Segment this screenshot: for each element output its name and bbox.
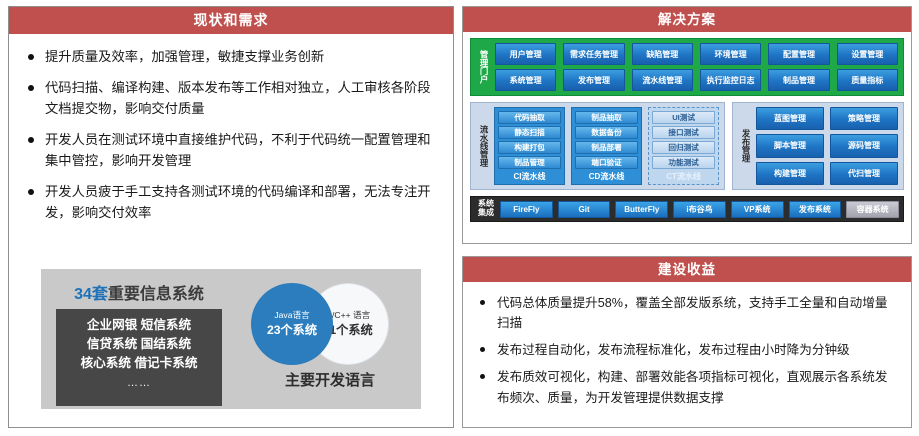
list-item: 开发人员在测试环境中直接维护代码，不利于代码统一配置管理和集中管控，影响开发管理 — [25, 129, 439, 172]
integration-item-butterfly[interactable]: ButterFly — [615, 201, 668, 218]
release-button-build-management[interactable]: 构建管理 — [756, 162, 824, 185]
management-portal-buttons: 用户管理 需求任务管理 缺陷管理 环境管理 配置管理 设置管理 系统管理 发布管… — [495, 43, 898, 91]
solution-middle-row: 流水线管理 代码抽取 静态扫描 构建打包 制品管理 CI流水线 制品抽取 数据备… — [470, 102, 904, 190]
cd-step-artifact-fetch[interactable]: 制品抽取 — [575, 111, 638, 124]
cd-step-port-verify[interactable]: 端口验证 — [575, 156, 638, 169]
ci-step-build-package[interactable]: 构建打包 — [498, 141, 561, 154]
ci-step-code-checkout[interactable]: 代码抽取 — [498, 111, 561, 124]
integration-item-vp-system[interactable]: VP系统 — [731, 201, 784, 218]
ct-step-ui-test[interactable]: UI测试 — [652, 111, 715, 124]
pipeline-name-ct: CT流水线 — [652, 171, 715, 182]
release-button-script-management[interactable]: 脚本管理 — [756, 134, 824, 157]
venn-caption: 主要开发语言 — [237, 369, 423, 390]
integration-item-release-system[interactable]: 发布系统 — [789, 201, 842, 218]
pipeline-name-ci: CI流水线 — [498, 171, 561, 182]
portal-button-quality-metrics[interactable]: 质量指标 — [837, 69, 898, 91]
system-name-row: 信贷系统 国结系统 — [87, 335, 191, 354]
integration-item-firefly[interactable]: FireFly — [500, 201, 553, 218]
portal-button-release-management[interactable]: 发布管理 — [563, 69, 624, 91]
pipeline-management-layer: 流水线管理 代码抽取 静态扫描 构建打包 制品管理 CI流水线 制品抽取 数据备… — [470, 102, 725, 190]
portal-button-pipeline-management[interactable]: 流水线管理 — [632, 69, 693, 91]
portal-button-user-management[interactable]: 用户管理 — [495, 43, 556, 65]
release-button-source-code-management[interactable]: 源码管理 — [830, 134, 898, 157]
list-item: 代码扫描、编译构建、版本发布等工作相对独立，人工审核各阶段文档提交物，影响交付质… — [25, 77, 439, 120]
ct-step-regression-test[interactable]: 回归测试 — [652, 141, 715, 154]
pipeline-column-cd: 制品抽取 数据备份 制品部署 端口验证 CD流水线 — [571, 107, 642, 185]
pipeline-column-ci: 代码抽取 静态扫描 构建打包 制品管理 CI流水线 — [494, 107, 565, 185]
systems-count-suffix: 重要信息系统 — [108, 286, 204, 303]
solution-architecture-diagram: 管理门户 用户管理 需求任务管理 缺陷管理 环境管理 配置管理 设置管理 系统管… — [463, 32, 911, 228]
pipeline-columns: 代码抽取 静态扫描 构建打包 制品管理 CI流水线 制品抽取 数据备份 制品部署… — [494, 107, 719, 185]
ci-step-static-scan[interactable]: 静态扫描 — [498, 126, 561, 139]
release-button-blueprint-management[interactable]: 蓝图管理 — [756, 107, 824, 130]
release-management-layer: 发布管理 蓝图管理 策略管理 脚本管理 源码管理 构建管理 代扫管理 — [732, 102, 904, 190]
venn-java-label: Java语言 — [274, 310, 309, 322]
management-portal-layer: 管理门户 用户管理 需求任务管理 缺陷管理 环境管理 配置管理 设置管理 系统管… — [470, 38, 904, 96]
systems-count-block: 34套重要信息系统 企业网银 短信系统 信贷系统 国结系统 核心系统 借记卡系统… — [41, 269, 237, 409]
portal-button-environment-management[interactable]: 环境管理 — [700, 43, 761, 65]
portal-button-artifact-management[interactable]: 制品管理 — [768, 69, 829, 91]
list-item: 发布质效可视化，构建、部署效能各项指标可视化，直观展示各系统发布频次、质量，为开… — [477, 367, 899, 407]
cd-step-data-backup[interactable]: 数据备份 — [575, 126, 638, 139]
pipeline-column-ct: UI测试 接口测试 回归测试 功能测试 CT流水线 — [648, 107, 719, 185]
ct-step-interface-test[interactable]: 接口测试 — [652, 126, 715, 139]
pipeline-management-label: 流水线管理 — [476, 107, 491, 185]
list-item: 开发人员疲于手工支持各测试环境的代码编译和部署，无法专注开发，影响交付效率 — [25, 181, 439, 224]
panel-solution-title: 解决方案 — [463, 7, 911, 32]
release-button-strategy-management[interactable]: 策略管理 — [830, 107, 898, 130]
portal-button-requirement-task-management[interactable]: 需求任务管理 — [563, 43, 624, 65]
portal-button-settings-management[interactable]: 设置管理 — [837, 43, 898, 65]
language-venn-block: Java语言 23个系统 C/C++ 语言 11个系统 主要开发语言 — [237, 269, 421, 409]
system-integration-items: FireFly Git ButterFly i布谷鸟 VP系统 发布系统 容器系… — [500, 201, 899, 218]
system-name-row: 核心系统 借记卡系统 — [81, 354, 198, 373]
current-situation-bullet-list: 提升质量及效率，加强管理，敏捷支撑业务创新 代码扫描、编译构建、版本发布等工作相… — [9, 34, 453, 224]
integration-item-git[interactable]: Git — [558, 201, 611, 218]
benefits-bullet-list: 代码总体质量提升58%，覆盖全部发版系统，支持手工全量和自动增量扫描 发布过程自… — [463, 282, 911, 408]
list-item: 发布过程自动化，发布流程标准化，发布过程由小时降为分钟级 — [477, 340, 899, 360]
panel-solution: 解决方案 管理门户 用户管理 需求任务管理 缺陷管理 环境管理 配置管理 设置管… — [462, 6, 912, 244]
integration-item-container-system[interactable]: 容器系统 — [846, 201, 899, 218]
ct-step-function-test[interactable]: 功能测试 — [652, 156, 715, 169]
ci-step-artifact-management[interactable]: 制品管理 — [498, 156, 561, 169]
venn-java-value: 23个系统 — [267, 322, 317, 338]
systems-count-unit: 套 — [92, 286, 108, 303]
venn-diagram: Java语言 23个系统 C/C++ 语言 11个系统 — [245, 283, 415, 365]
panel-benefits-title: 建设收益 — [463, 257, 911, 282]
panel-current-situation: 现状和需求 提升质量及效率，加强管理，敏捷支撑业务创新 代码扫描、编译构建、版本… — [8, 6, 454, 428]
venn-circle-java: Java语言 23个系统 — [251, 283, 333, 365]
slide-canvas: 现状和需求 提升质量及效率，加强管理，敏捷支撑业务创新 代码扫描、编译构建、版本… — [0, 0, 919, 436]
system-integration-label: 系统集成 — [475, 200, 497, 218]
release-management-label: 发布管理 — [738, 107, 753, 185]
portal-button-system-management[interactable]: 系统管理 — [495, 69, 556, 91]
cd-step-artifact-deploy[interactable]: 制品部署 — [575, 141, 638, 154]
panel-benefits: 建设收益 代码总体质量提升58%，覆盖全部发版系统，支持手工全量和自动增量扫描 … — [462, 256, 912, 428]
panel-current-situation-title: 现状和需求 — [9, 7, 453, 34]
release-button-code-scan-management[interactable]: 代扫管理 — [830, 162, 898, 185]
list-item: 代码总体质量提升58%，覆盖全部发版系统，支持手工全量和自动增量扫描 — [477, 293, 899, 333]
portal-button-defect-management[interactable]: 缺陷管理 — [632, 43, 693, 65]
systems-statistics-graphic: 34套重要信息系统 企业网银 短信系统 信贷系统 国结系统 核心系统 借记卡系统… — [41, 269, 421, 409]
pipeline-name-cd: CD流水线 — [575, 171, 638, 182]
system-name-box: 企业网银 短信系统 信贷系统 国结系统 核心系统 借记卡系统 …… — [56, 309, 222, 406]
portal-button-execution-monitor-log[interactable]: 执行监控日志 — [700, 69, 761, 91]
list-item: 提升质量及效率，加强管理，敏捷支撑业务创新 — [25, 46, 439, 68]
systems-count-number: 34 — [74, 286, 92, 303]
system-name-ellipsis: …… — [127, 377, 151, 389]
release-management-buttons: 蓝图管理 策略管理 脚本管理 源码管理 构建管理 代扫管理 — [756, 107, 898, 185]
management-portal-label: 管理门户 — [476, 43, 491, 91]
portal-button-configuration-management[interactable]: 配置管理 — [768, 43, 829, 65]
system-name-row: 企业网银 短信系统 — [87, 316, 191, 335]
systems-count-title: 34套重要信息系统 — [74, 280, 204, 304]
integration-item-cuckoo[interactable]: i布谷鸟 — [673, 201, 726, 218]
system-integration-layer: 系统集成 FireFly Git ButterFly i布谷鸟 VP系统 发布系… — [470, 196, 904, 222]
